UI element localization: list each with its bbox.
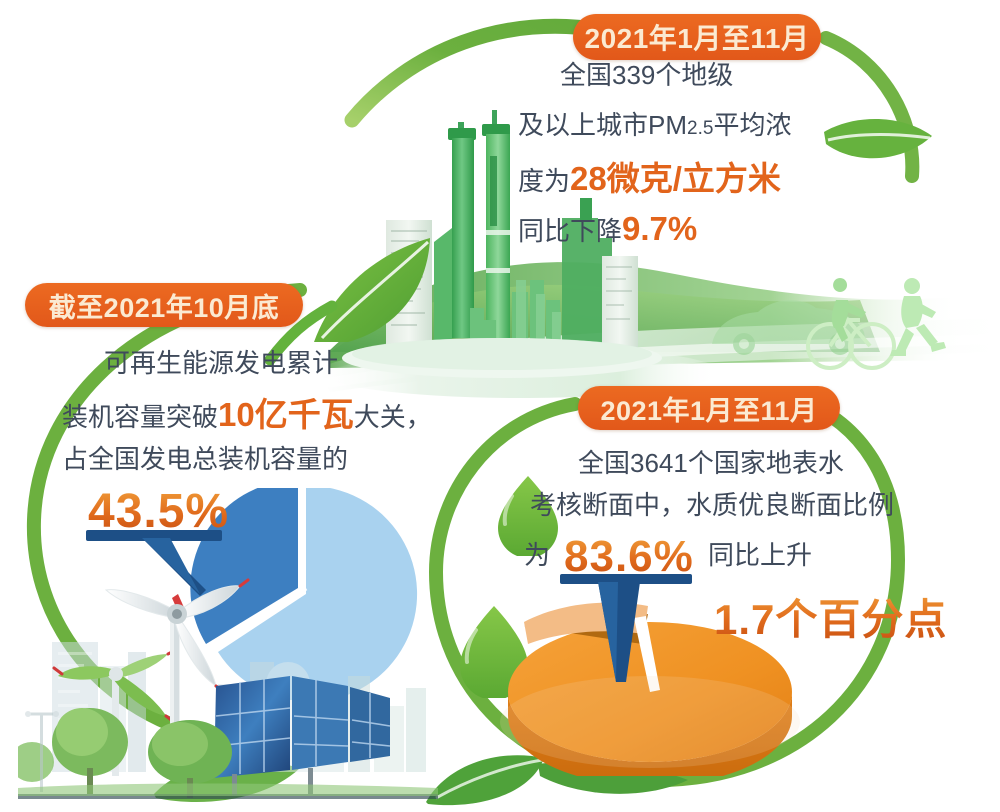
air-pm25-value: 28微克/立方米 [570,160,781,197]
air-line-2-a: 及以上城市PM [518,110,687,140]
infographic-canvas: 43.5% [0,0,1000,812]
badge-water-period[interactable]: 2021年1月至11月 [578,386,840,430]
runner-silhouette [890,278,946,356]
energy-line-1: 可再生能源发电累计 [104,350,338,376]
eco-transport-silhouettes [700,258,1000,378]
air-line-3: 度为28微克/立方米 [518,162,781,195]
air-pm-subscript: 2.5 [687,118,713,139]
badge-air-period[interactable]: 2021年1月至11月 [573,14,821,60]
air-line-2: 及以上城市PM2.5平均浓 [518,112,791,138]
badge-energy-period[interactable]: 截至2021年10月底 [25,283,303,327]
air-line-3-prefix: 度为 [518,166,570,196]
water-line-3-suffix: 同比上升 [708,542,812,568]
energy-line-2-suffix: 大关， [354,402,432,432]
air-line-4-prefix: 同比下降 [518,216,622,246]
water-line-1: 全国3641个国家地表水 [578,450,844,476]
air-line-2-b: 平均浓 [713,110,791,140]
water-quality-pointer [596,580,676,690]
air-yoy-change: 9.7% [622,210,697,247]
solar-panel-array [214,676,390,796]
energy-capacity-value: 10亿千瓦 [218,396,354,433]
water-line-3-prefix: 为 [524,542,550,568]
air-line-1: 全国339个地级 [560,62,733,88]
renewable-energy-illustration [18,556,438,812]
energy-line-2-prefix: 装机容量突破 [62,402,218,432]
water-line-2: 考核断面中，水质优良断面比例 [530,492,894,518]
leaf-top-right-icon [806,92,956,202]
water-yoy-change: 1.7个百分点 [714,586,947,647]
leaf-top-left-icon [262,196,452,366]
air-line-4: 同比下降9.7% [518,212,697,245]
energy-line-2: 装机容量突破10亿千瓦大关， [62,398,432,431]
energy-line-3: 占全国发电总装机容量的 [62,446,348,472]
